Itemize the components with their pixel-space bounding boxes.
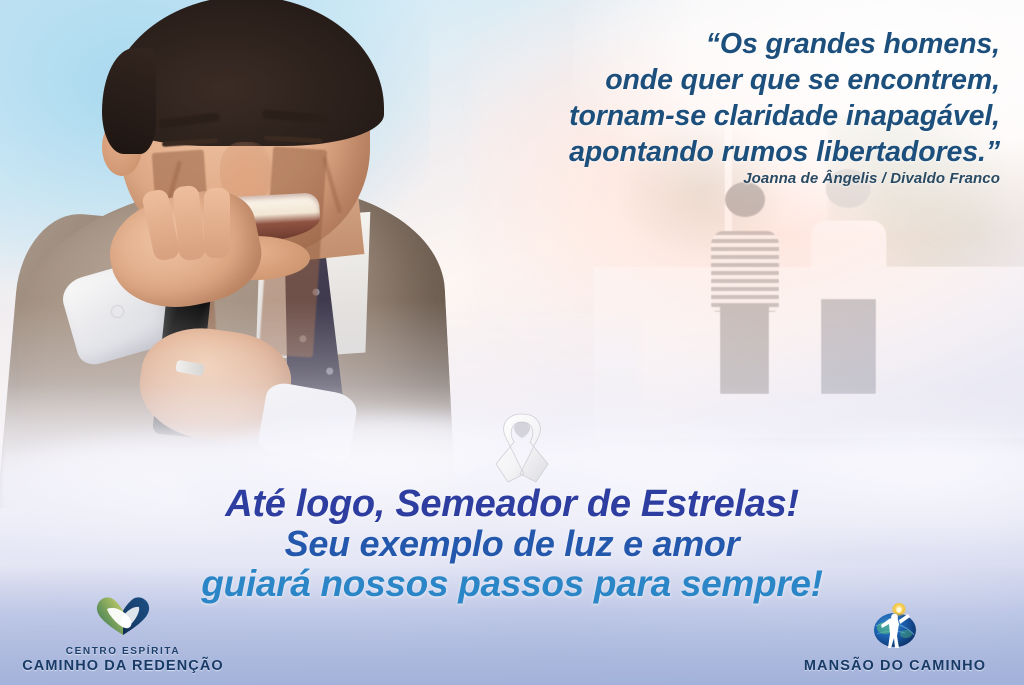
background-person-striped <box>707 182 784 386</box>
globe-figure-icon <box>780 602 1010 655</box>
memorial-poster: “Os grandes homens, onde quer que se enc… <box>0 0 1024 685</box>
quote-line-1: “Os grandes homens, <box>440 26 1000 62</box>
white-ribbon-icon <box>484 408 560 488</box>
portrait-finger-3 <box>204 188 230 258</box>
logo-left-sub-label: CENTRO ESPÍRITA <box>18 645 228 658</box>
quote-line-2: onde quer que se encontrem, <box>440 62 1000 98</box>
background-person-white <box>806 169 892 386</box>
logo-centro-espirita: CENTRO ESPÍRITA CAMINHO DA REDENÇÃO <box>18 593 228 675</box>
hands-heart-icon <box>18 593 228 642</box>
logo-mansao-do-caminho: MANSÃO DO CAMINHO <box>780 602 1010 675</box>
headline-block: Até logo, Semeador de Estrelas! Seu exem… <box>0 484 1024 604</box>
logo-right-main-label: MANSÃO DO CAMINHO <box>780 658 1010 675</box>
portrait-hair <box>108 0 384 146</box>
quote-attribution: Joanna de Ângelis / Divaldo Franco <box>440 170 1000 187</box>
headline-line-2: Seu exemplo de luz e amor <box>0 524 1024 564</box>
logo-left-main-label: CAMINHO DA REDENÇÃO <box>18 658 228 675</box>
quote-line-4: apontando rumos libertadores.” <box>440 134 1000 170</box>
quote-text: “Os grandes homens, onde quer que se enc… <box>440 26 1000 170</box>
quote-line-3: tornam-se claridade inapagável, <box>440 98 1000 134</box>
headline-line-1: Até logo, Semeador de Estrelas! <box>0 484 1024 524</box>
